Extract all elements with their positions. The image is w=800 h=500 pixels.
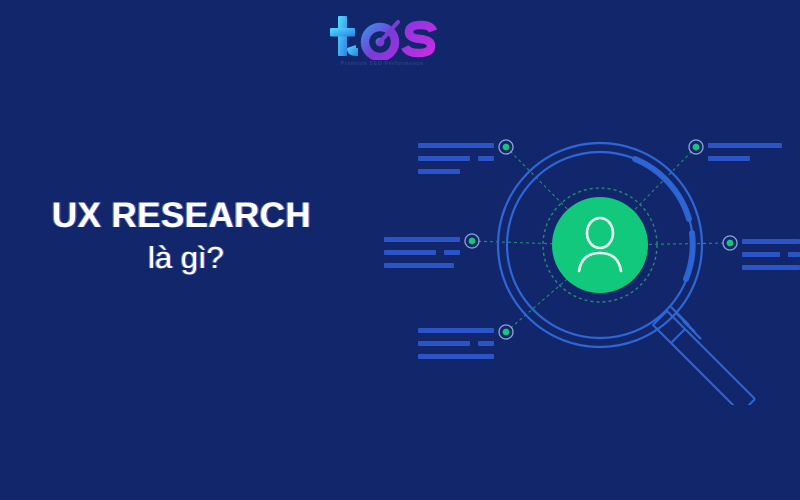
node-top-left: [499, 140, 513, 154]
node-mid-left: [465, 234, 479, 248]
headline-block: UX RESEARCH là gì?: [52, 198, 382, 274]
tos-logo-icon: [322, 14, 442, 60]
node-top-right: [689, 140, 703, 154]
node-bottom-left: [499, 325, 513, 339]
avatar-disc: [552, 197, 648, 293]
text-block-mid-left: [384, 237, 460, 268]
text-block-top-left: [418, 143, 494, 174]
text-block-mid-right: [742, 239, 800, 270]
bottom-band-notch: [0, 460, 800, 500]
slide-canvas: Premium SEO Performance UX RESEARCH là g…: [0, 0, 800, 500]
node-mid-right: [723, 236, 737, 250]
text-block-top-right: [708, 143, 782, 161]
headline-title: UX RESEARCH: [52, 198, 382, 235]
ux-research-illustration: [370, 95, 800, 405]
headline-subtitle: là gì?: [52, 242, 382, 275]
logo-tagline: Premium SEO Performance: [322, 61, 442, 67]
brand-logo: Premium SEO Performance: [322, 14, 442, 67]
text-block-bottom-left: [418, 328, 494, 359]
